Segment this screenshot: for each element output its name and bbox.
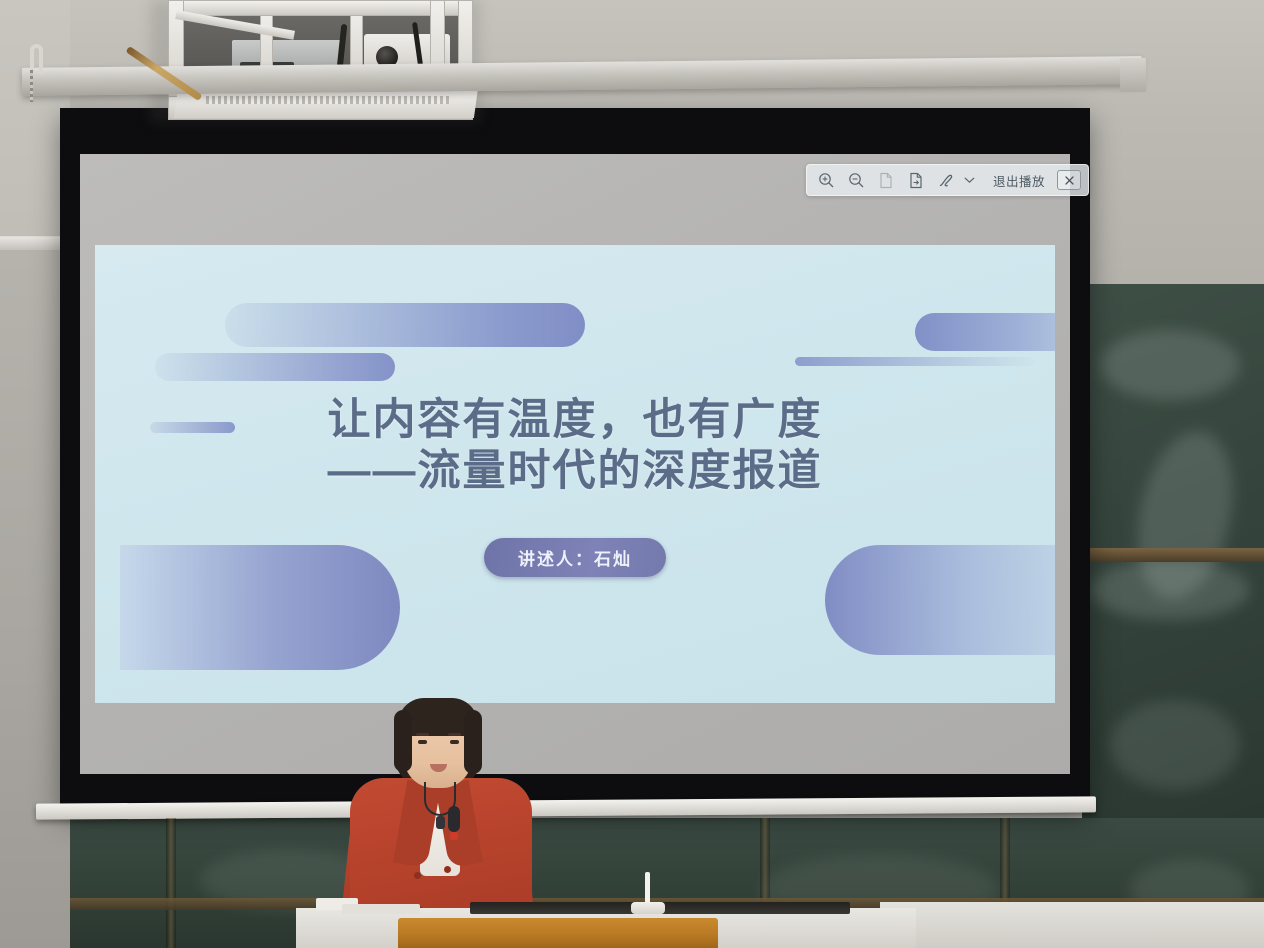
slide-title-line2: ——流量时代的深度报道 bbox=[95, 446, 1055, 497]
close-icon[interactable] bbox=[1057, 170, 1081, 190]
decor-pill bbox=[155, 353, 395, 381]
desk-cup bbox=[631, 902, 665, 914]
slide-title-line1: 让内容有温度，也有广度 bbox=[328, 396, 823, 444]
projector-vent bbox=[206, 96, 450, 104]
jacket-button bbox=[414, 872, 421, 879]
presenter-eyebrow bbox=[448, 733, 461, 736]
microphone-indicator bbox=[450, 832, 458, 840]
decor-pill bbox=[120, 545, 400, 670]
classroom-scene: 让内容有温度，也有广度 ——流量时代的深度报道 讲述人：石灿 退出播放 bbox=[0, 0, 1264, 948]
chalk-smudge bbox=[1100, 330, 1240, 400]
jacket-button bbox=[444, 866, 451, 873]
desk-surface-right bbox=[880, 902, 1264, 948]
desk-pointer bbox=[645, 872, 650, 904]
next-page-icon[interactable] bbox=[901, 167, 931, 193]
chalkboard-seam bbox=[166, 818, 176, 948]
zoom-in-icon[interactable] bbox=[811, 167, 841, 193]
slide-title: 让内容有温度，也有广度 ——流量时代的深度报道 bbox=[95, 395, 1055, 496]
presenter-eye bbox=[418, 740, 427, 744]
decor-pill bbox=[825, 545, 1055, 655]
hook-chain bbox=[30, 70, 33, 102]
playback-toolbar[interactable]: 退出播放 bbox=[806, 164, 1089, 196]
previous-page-icon[interactable] bbox=[871, 167, 901, 193]
lavalier-microphone bbox=[448, 806, 460, 832]
decor-pill bbox=[795, 357, 1035, 366]
necklace-pendant bbox=[436, 816, 445, 829]
chalk-smudge bbox=[1110, 700, 1240, 790]
chevron-down-icon[interactable] bbox=[961, 167, 977, 193]
presenter-hair-side bbox=[394, 710, 412, 772]
pen-icon[interactable] bbox=[931, 167, 961, 193]
decor-pill bbox=[225, 303, 585, 347]
chalk-smudge bbox=[1090, 560, 1250, 620]
screen-roller-end-cap bbox=[1120, 58, 1146, 92]
presenter-eyebrow bbox=[416, 733, 429, 736]
decor-pill bbox=[915, 313, 1055, 351]
exit-playback-button[interactable]: 退出播放 bbox=[977, 171, 1057, 190]
chalkboard-ledge bbox=[1082, 548, 1264, 562]
presenter-eye bbox=[450, 740, 459, 744]
zoom-out-icon[interactable] bbox=[841, 167, 871, 193]
presenter-hair-side bbox=[464, 710, 482, 774]
speaker-badge: 讲述人：石灿 bbox=[484, 538, 666, 577]
podium-wooden-ledge bbox=[398, 918, 718, 948]
presentation-slide[interactable]: 让内容有温度，也有广度 ——流量时代的深度报道 讲述人：石灿 bbox=[95, 245, 1055, 703]
cage-bar bbox=[168, 0, 473, 16]
desk-paper bbox=[342, 904, 420, 914]
